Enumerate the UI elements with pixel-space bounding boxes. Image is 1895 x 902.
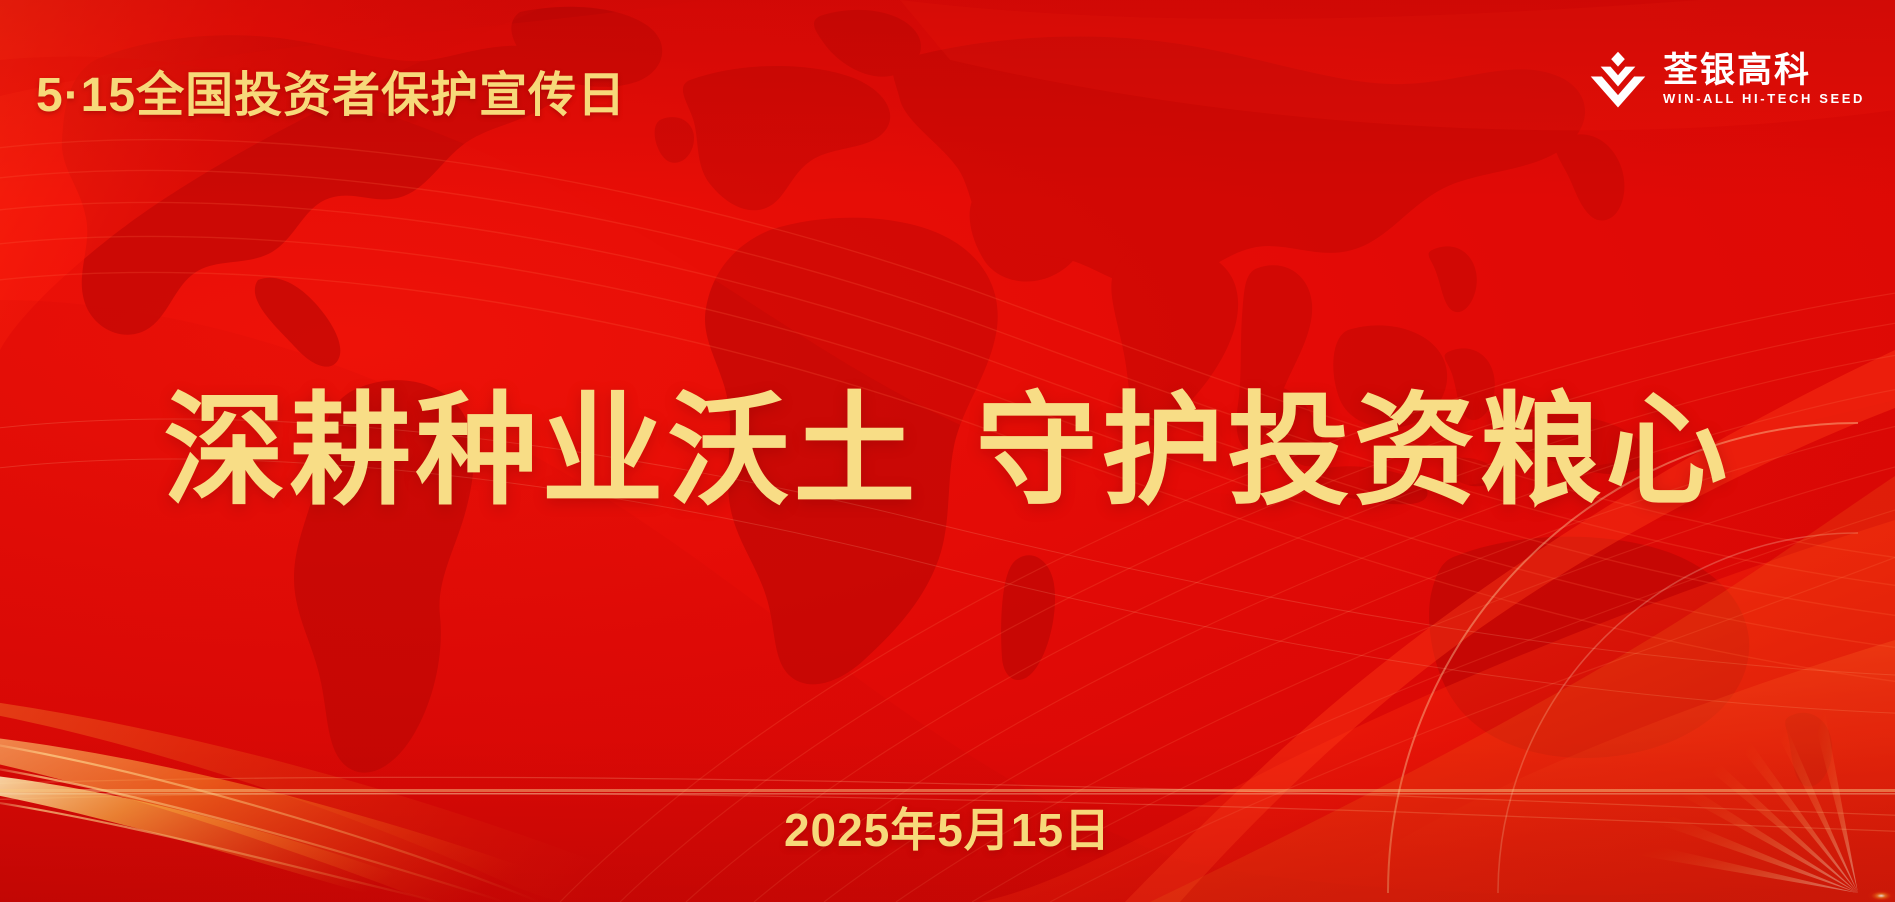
headline-part-1: 深耕种业沃土 — [164, 383, 920, 519]
brand-logo: 荃银高科 WIN-ALL HI-TECH SEED — [1587, 48, 1865, 110]
event-tag: 5·15全国投资者保护宣传日 — [36, 55, 626, 125]
brand-name-cn: 荃银高科 — [1663, 53, 1865, 90]
event-date: 2025年5月15日 — [0, 794, 1895, 860]
investor-protection-banner: 5·15全国投资者保护宣传日 荃银高科 WIN-ALL HI-TECH SEE — [0, 0, 1895, 902]
page-title: 深耕种业沃土守护投资粮心 — [0, 352, 1895, 529]
brand-name-en: WIN-ALL HI-TECH SEED — [1663, 92, 1865, 106]
chevron-diamond-logo-icon — [1587, 48, 1649, 110]
banner-content: 5·15全国投资者保护宣传日 荃银高科 WIN-ALL HI-TECH SEE — [0, 0, 1895, 902]
brand-text: 荃银高科 WIN-ALL HI-TECH SEED — [1663, 53, 1865, 105]
headline-part-2: 守护投资粮心 — [976, 383, 1732, 519]
